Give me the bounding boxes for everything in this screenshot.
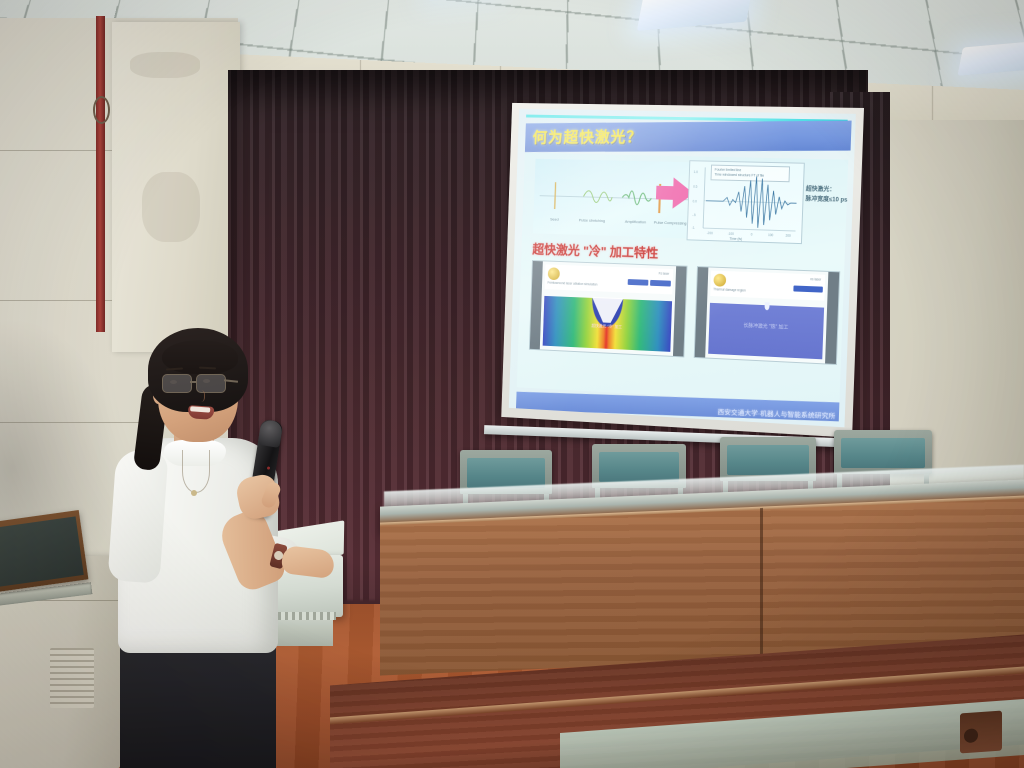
pulse-waveform-chart: Fourier limited line Time windowed struc… [687,160,805,244]
video-description: Thermal damage region [713,287,761,293]
video-panel-nanosecond: Thermal damage region ns laser 长脉冲激光 "热"… [694,266,840,365]
video-badge: Fs laser [645,271,670,276]
svg-text:200: 200 [786,234,792,238]
svg-text:-100: -100 [728,232,735,236]
video-button-play [628,279,649,286]
ablation-notch [591,297,623,323]
panel-overlay-text: 长脉冲激光 "热" 加工 [709,320,823,332]
svg-text:-.5: -.5 [692,213,696,217]
droplet-icon [764,302,769,310]
video-button-stop [650,280,671,287]
svg-text:-1.: -1. [692,226,696,230]
svg-text:0.0: 0.0 [693,199,698,203]
slide-side-note: 超快激光： 脉冲宽度≤10 ps [805,185,856,206]
heat-map-visual: 超快激光 "冷" 加工 [543,296,672,352]
projected-slide: 何为超快激光？ [509,109,856,428]
presenter-nose [196,390,205,402]
screen-frame: 何为超快激光？ [501,103,864,438]
wall-trim-strip [96,16,105,332]
presenter [96,300,346,768]
necklace [182,450,210,493]
svg-text:-200: -200 [707,231,713,235]
video-header: Femtosecond laser ablation simulation Fs… [545,264,674,294]
cpa-diagram: Seed Pulse stretching Amplification Puls… [533,159,710,239]
vent-icon [50,648,94,708]
seed-pulse-icon [548,180,562,211]
cpa-stage-label: Seed [541,216,569,222]
microphone-head [258,419,284,448]
presenter-hand-on-lectern [280,545,335,579]
video-header: Thermal damage region ns laser [710,271,825,301]
chart-xlabel: Time (fs) [729,237,742,241]
presenter-skirt [120,636,276,768]
svg-text:0.5: 0.5 [693,185,698,189]
chart-plot-area: -200-100 0100200 1.00.5 0.0-.5-1. [688,161,804,243]
projection-screen: 何为超快激光？ [501,103,864,438]
stretched-pulse-icon [581,181,613,213]
eyeglasses-bridge [190,381,197,383]
video-badge: ns laser [796,277,822,283]
svg-text:100: 100 [768,233,774,237]
side-note-line-2: 脉冲宽度≤10 ps [805,195,856,206]
thermal-damage-visual: 长脉冲激光 "热" 加工 [708,303,824,359]
necklace-pendant [191,490,197,496]
svg-text:1.0: 1.0 [694,170,699,174]
foreground-table-fitting [960,711,1002,754]
slide-body: Seed Pulse stretching Amplification Puls… [517,153,849,405]
svg-text:0: 0 [751,232,753,236]
wall-hook-icon [93,96,110,124]
slide-title: 何为超快激光？ [532,124,642,148]
amplified-pulse-icon [620,182,653,214]
monitor-screen [0,510,88,592]
conference-room-photo: 何为超快激光？ [0,0,1024,768]
video-panel-femtosecond: Femtosecond laser ablation simulation Fs… [529,260,688,357]
cpa-stage-label: Pulse stretching [572,217,613,223]
slide-section-heading: 超快激光 "冷" 加工特性 [532,239,659,262]
presenter-left-sleeve [107,448,168,583]
video-description: Femtosecond laser ablation simulation [547,281,602,288]
video-logo-icon [713,274,726,287]
table-panel-seam [760,508,763,658]
eyeglasses-lens [162,374,192,393]
video-logo-icon [548,267,560,280]
microphone-indicator [267,466,270,469]
video-button-nanosecond [793,285,823,292]
